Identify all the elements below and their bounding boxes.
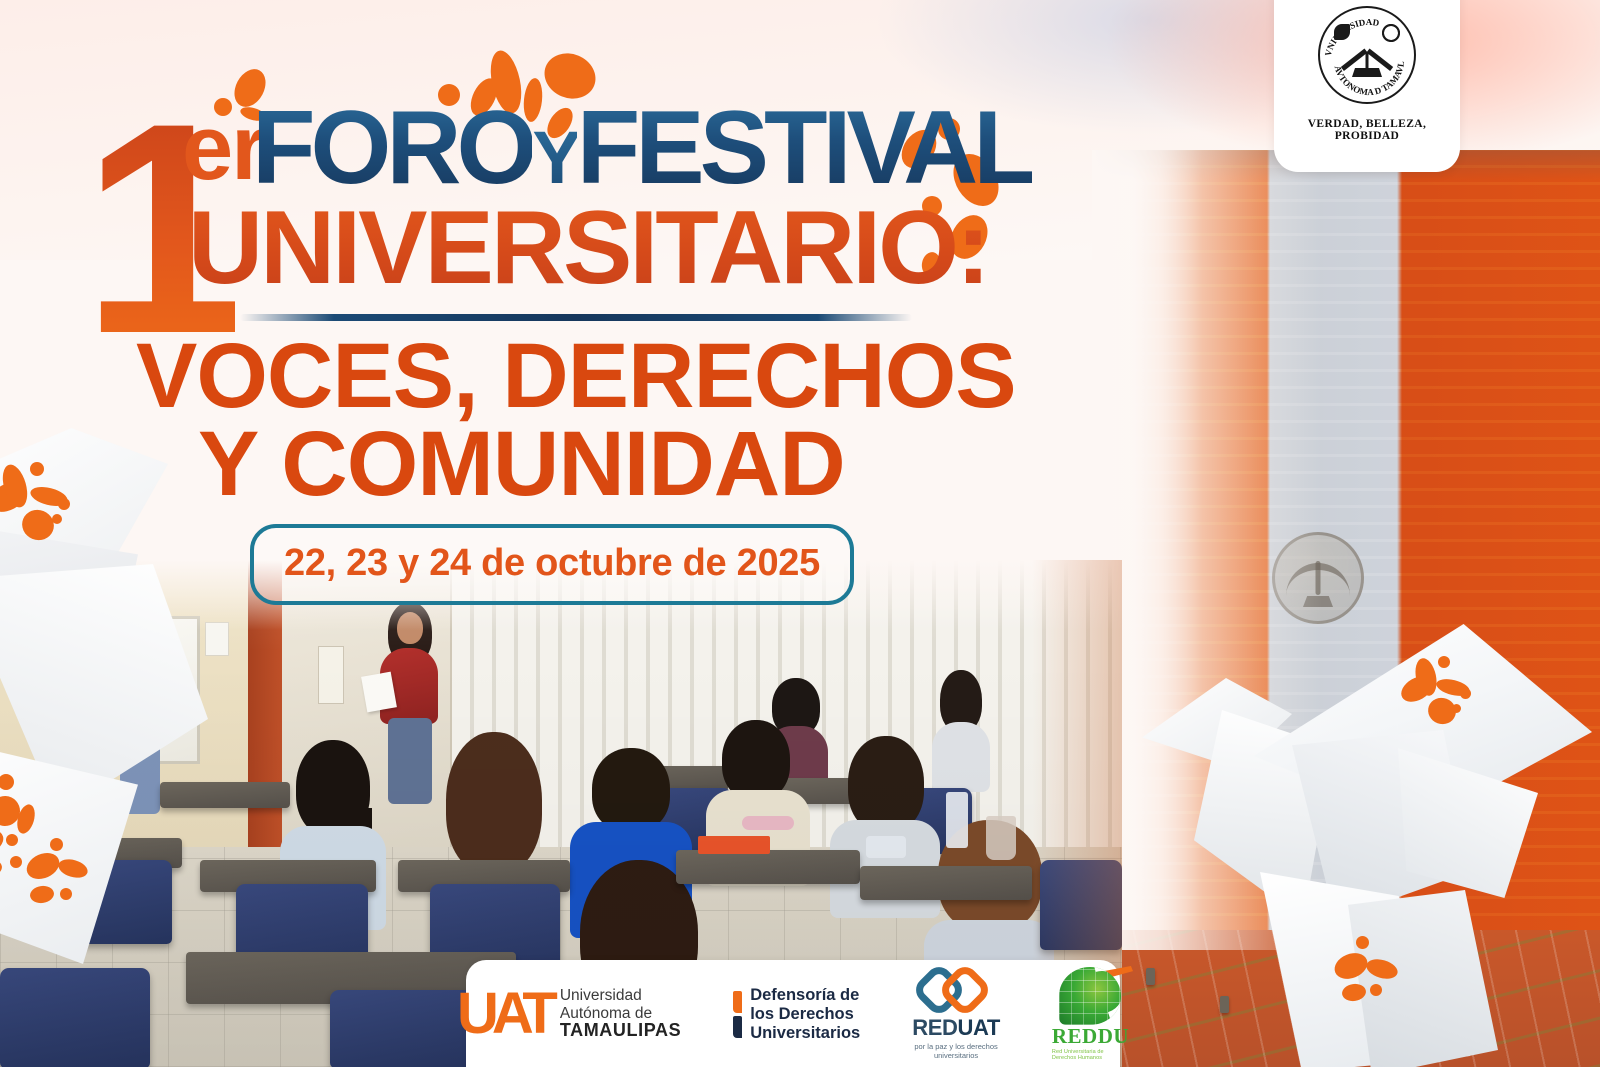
uat-subtitle-line3: TAMAULIPAS: [560, 1020, 681, 1040]
red-uat-word-red: RED: [912, 1015, 957, 1040]
event-dates-badge: 22, 23 y 24 de octubre de 2025: [250, 524, 854, 605]
title-word-foro: FORO: [252, 90, 532, 206]
defensoria-line3: Universitarios: [750, 1024, 860, 1043]
defensoria-line2: los Derechos: [750, 1005, 860, 1024]
uat-subtitle-line1: Universidad: [560, 987, 681, 1005]
splash-burst-icon: [1398, 656, 1488, 734]
sponsor-logo-bar: UAT Universidad Autónoma de TAMAULIPAS D…: [466, 960, 1120, 1067]
origami-dove-icon: [1142, 618, 1600, 1067]
red-uat-word-uat: UAT: [957, 1015, 999, 1040]
splash-burst-icon: [1326, 936, 1412, 1012]
university-seal-card: VNIVERSIDAD AVTONOMA D TAMAVLIPAS VERDAD…: [1274, 0, 1460, 172]
university-seal-icon: VNIVERSIDAD AVTONOMA D TAMAVLIPAS: [1318, 6, 1416, 104]
defensoria-bars-icon: [733, 991, 742, 1038]
title-line-universitario: UNIVERSITARIO:: [188, 196, 988, 300]
seal-arc-text: VNIVERSIDAD AVTONOMA D TAMAVLIPAS: [1320, 8, 1418, 106]
red-uat-wordmark: REDUAT: [912, 1015, 1000, 1041]
headline-block: 1 er FOROYFESTIVAL UNIVERSITARIO: VOCES,…: [0, 0, 1050, 620]
reddu-tagline: Red Universitaria de Derechos Humanos: [1052, 1049, 1129, 1061]
logo-defensoria: Defensoría de los Derechos Universitario…: [733, 986, 860, 1043]
seal-motto: VERDAD, BELLEZA, PROBIDAD: [1274, 118, 1460, 142]
defensoria-line1: Defensoría de: [750, 986, 860, 1005]
splash-burst-icon: [16, 838, 106, 918]
logo-reddu: REDDU Red Universitaria de Derechos Huma…: [1052, 967, 1129, 1061]
reddu-wordmark: REDDU: [1052, 1024, 1129, 1049]
seal-book-icon: [1352, 68, 1382, 77]
red-uat-tagline: por la paz y los derechos universitarios: [914, 1043, 997, 1060]
title-conjunction: Y: [532, 116, 576, 199]
reddu-globe-icon: [1059, 967, 1121, 1025]
logo-uat: UAT Universidad Autónoma de TAMAULIPAS: [457, 987, 681, 1041]
red-uat-links-icon: [919, 967, 993, 1013]
logo-red-uat: REDUAT por la paz y los derechos univers…: [912, 967, 1000, 1060]
uat-wordmark: UAT: [457, 988, 551, 1040]
red-uat-tagline-line2: universitarios: [914, 1052, 997, 1061]
seal-torch-icon: [1334, 24, 1350, 40]
title-word-festival: FESTIVAL: [577, 90, 1032, 206]
title-divider: [240, 314, 912, 321]
defensoria-text: Defensoría de los Derechos Universitario…: [750, 986, 860, 1043]
poster-canvas: 1 er FOROYFESTIVAL UNIVERSITARIO: VOCES,…: [0, 0, 1600, 1067]
uat-subtitle: Universidad Autónoma de TAMAULIPAS: [560, 987, 681, 1041]
subtitle-line-1: VOCES, DERECHOS: [136, 330, 1016, 422]
subtitle-line-2: Y COMUNIDAD: [198, 418, 845, 510]
seal-figure: [1366, 52, 1369, 70]
